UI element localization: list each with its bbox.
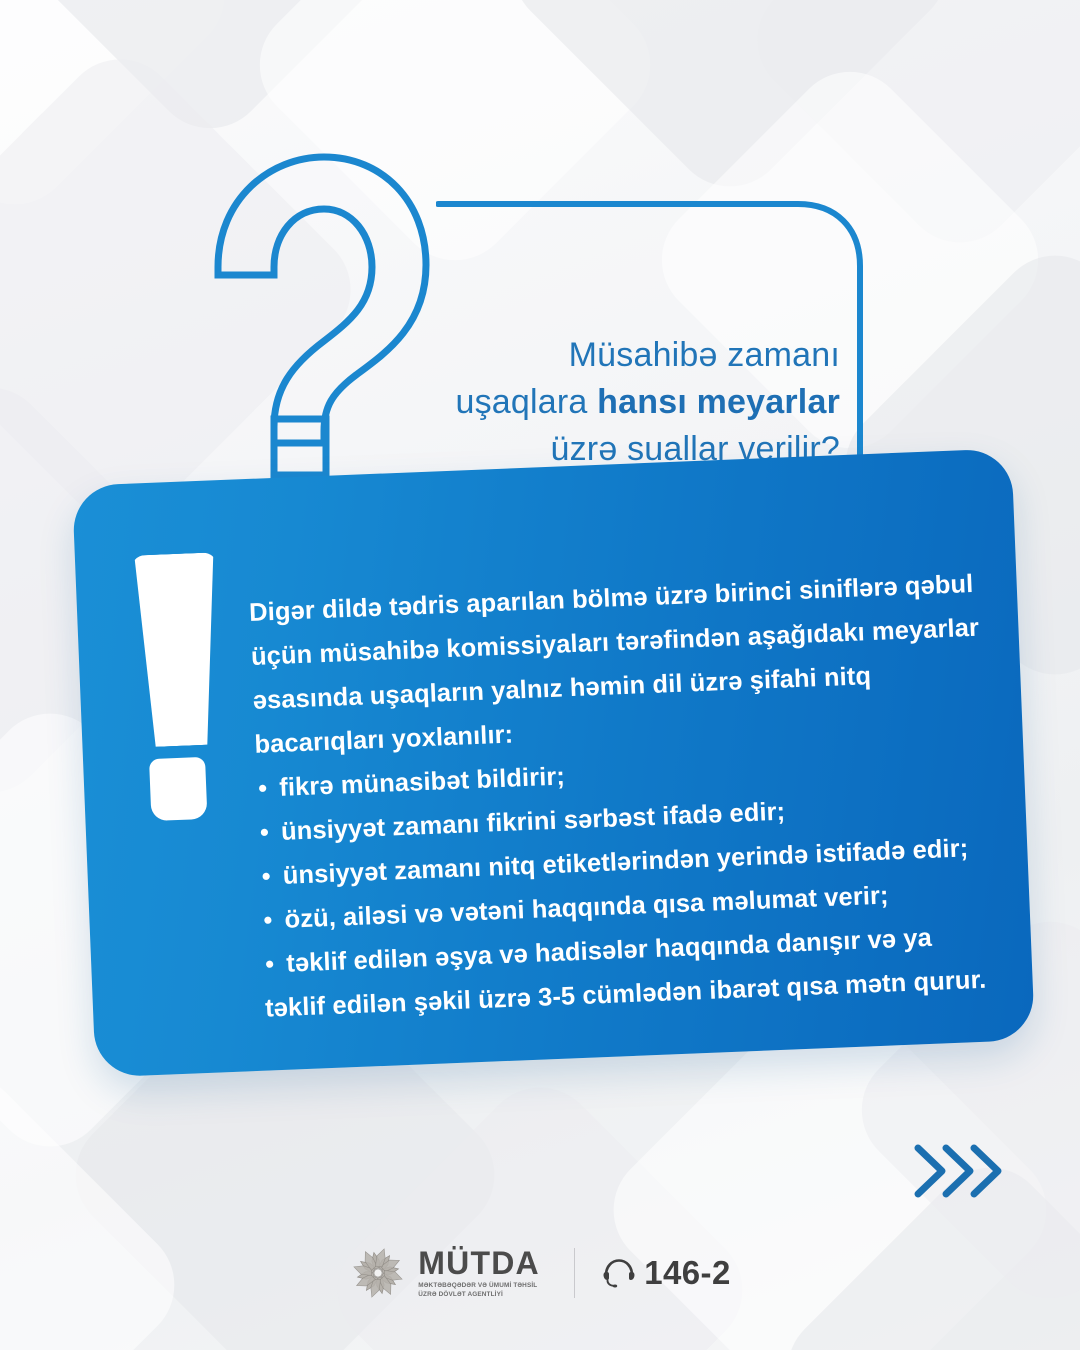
answer-card: Digər dildə tədris aparılan bölmə üzrə b…	[72, 448, 1035, 1077]
poster-canvas: Müsahibə zamanı uşaqlara hansı meyarlar …	[0, 0, 1080, 1350]
footer-bar: MÜTDA MƏKTƏBƏQƏDƏR VƏ ÜMUMİ TƏHSİL ÜZRƏ …	[0, 1228, 1080, 1318]
brand-name: MÜTDA	[418, 1247, 548, 1279]
hotline-lockup[interactable]: 146-2	[601, 1254, 730, 1292]
footer-divider	[574, 1248, 575, 1298]
brand-subtitle: MƏKTƏBƏQƏDƏR VƏ ÜMUMİ TƏHSİL ÜZRƏ DÖVLƏT…	[418, 1282, 548, 1299]
headset-icon	[601, 1255, 637, 1291]
headline-line-2: uşaqlara hansı meyarlar	[330, 379, 840, 426]
bg-diamond	[0, 0, 422, 152]
bg-diamond	[490, 0, 971, 210]
answer-content: Digər dildə tədris aparılan bölmə üzrə b…	[248, 561, 1005, 1030]
chevron-right-triple-icon[interactable]	[912, 1140, 1004, 1202]
question-headline: Müsahibə zamanı uşaqlara hansı meyarlar …	[330, 332, 840, 473]
headline-line-2-prefix: uşaqlara	[456, 383, 598, 421]
hotline-number: 146-2	[644, 1254, 730, 1292]
exclamation-dot-icon	[149, 757, 207, 821]
headline-line-2-bold: hansı meyarlar	[597, 383, 840, 421]
mutda-emblem-icon	[349, 1244, 407, 1302]
answer-bullet-list: fikrə münasibət bildirir; ünsiyyət zaman…	[255, 737, 1005, 1030]
headline-line-1: Müsahibə zamanı	[330, 332, 840, 379]
brand-lockup: MÜTDA MƏKTƏBƏQƏDƏR VƏ ÜMUMİ TƏHSİL ÜZRƏ …	[349, 1244, 548, 1302]
brand-text: MÜTDA MƏKTƏBƏQƏDƏR VƏ ÜMUMİ TƏHSİL ÜZRƏ …	[418, 1247, 548, 1299]
answer-intro: Digər dildə tədris aparılan bölmə üzrə b…	[248, 561, 994, 767]
